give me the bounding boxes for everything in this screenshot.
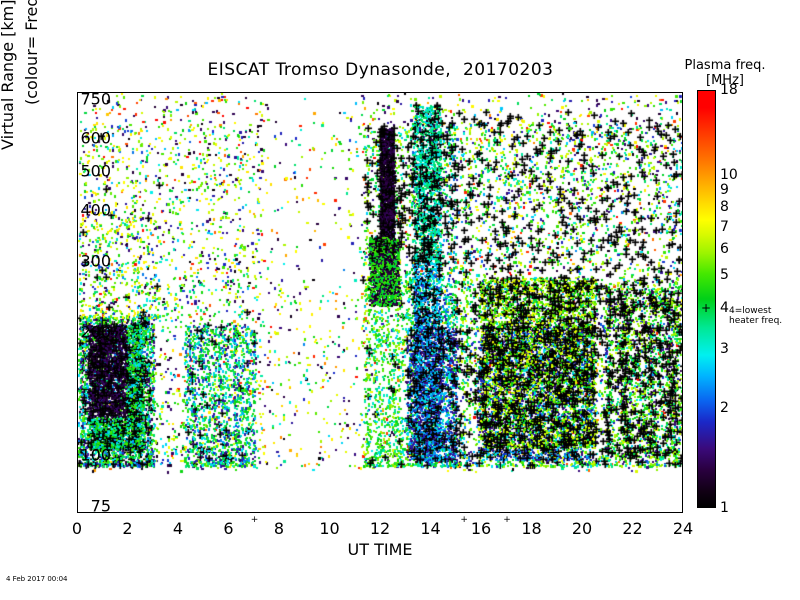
axis-tick xyxy=(77,373,78,374)
x-axis-event-marker-icon: + xyxy=(251,516,259,525)
heater-freq-note-line1: 4=lowest xyxy=(729,306,771,316)
axis-tick xyxy=(682,384,683,385)
axis-tick xyxy=(230,92,231,93)
axis-tick xyxy=(634,512,635,513)
axis-tick xyxy=(482,92,483,93)
x-axis-tick-label: 2 xyxy=(122,519,132,538)
page-title: EISCAT Tromso Dynasonde, 20170203 xyxy=(77,60,684,80)
axis-tick xyxy=(682,112,683,113)
heater-freq-note: 4=lowest heater freq. xyxy=(729,306,782,326)
y-axis-tick-label: 300 xyxy=(80,251,111,270)
axis-tick xyxy=(659,92,660,93)
axis-tick xyxy=(77,262,78,263)
axis-tick xyxy=(305,512,306,513)
axis-tick xyxy=(682,172,683,173)
colourbar-tick-label: 7 xyxy=(720,219,729,235)
x-axis-tick-label: 10 xyxy=(319,519,339,538)
axis-tick xyxy=(129,92,130,93)
axis-tick xyxy=(634,92,635,93)
dynasonde-ionogram-figure: EISCAT Tromso Dynasonde, 20170203 750600… xyxy=(0,0,800,600)
scatter-plot-canvas xyxy=(78,93,683,513)
axis-tick xyxy=(682,100,683,101)
colourbar-tick-label: 8 xyxy=(720,199,729,215)
generation-timestamp: 4 Feb 2017 00:04 xyxy=(6,575,68,583)
axis-tick xyxy=(682,439,683,440)
axis-tick xyxy=(77,235,78,236)
axis-tick xyxy=(482,512,483,513)
axis-tick xyxy=(533,512,534,513)
axis-tick xyxy=(77,343,78,344)
axis-tick xyxy=(381,92,382,93)
axis-tick xyxy=(77,294,78,295)
colourbar-tick-label: 1 xyxy=(720,500,729,516)
axis-tick xyxy=(230,512,231,513)
axis-tick xyxy=(77,439,78,440)
y-axis-tick-label: 200 xyxy=(80,323,111,342)
y-axis-title: Virtual Range [km] xyxy=(0,120,17,150)
axis-tick xyxy=(507,92,508,93)
axis-tick xyxy=(77,100,78,101)
axis-tick xyxy=(331,512,332,513)
axis-tick xyxy=(78,92,79,93)
axis-tick xyxy=(682,362,683,363)
axis-tick xyxy=(608,92,609,93)
axis-tick xyxy=(682,495,683,496)
axis-tick xyxy=(77,333,78,334)
x-axis-tick-label: 24 xyxy=(673,519,693,538)
axis-tick xyxy=(77,211,78,212)
axis-tick xyxy=(77,397,78,398)
axis-tick xyxy=(682,139,683,140)
axis-tick xyxy=(381,512,382,513)
axis-tick xyxy=(608,512,609,513)
axis-tick xyxy=(77,507,78,508)
heater-freq-note-line2: heater freq. xyxy=(729,316,782,326)
x-axis-tick-label: 22 xyxy=(622,519,642,538)
axis-tick xyxy=(331,92,332,93)
axis-tick xyxy=(77,190,78,191)
x-axis-tick-label: 6 xyxy=(223,519,233,538)
axis-tick xyxy=(682,397,683,398)
y-axis-tick-label: 750 xyxy=(80,89,111,108)
axis-tick xyxy=(507,512,508,513)
axis-tick xyxy=(682,456,683,457)
axis-tick xyxy=(583,512,584,513)
x-axis-event-marker-icon: + xyxy=(503,516,511,525)
axis-tick xyxy=(77,155,78,156)
axis-tick xyxy=(682,343,683,344)
axis-tick xyxy=(659,512,660,513)
axis-tick xyxy=(305,92,306,93)
axis-tick xyxy=(457,92,458,93)
axis-tick xyxy=(682,155,683,156)
y-axis-tick-label: 100 xyxy=(80,445,111,464)
axis-tick xyxy=(255,92,256,93)
axis-tick xyxy=(179,92,180,93)
axis-tick xyxy=(77,172,78,173)
axis-tick xyxy=(682,352,683,353)
colourbar-title-line1: Plasma freq. xyxy=(685,58,766,73)
axis-tick xyxy=(154,92,155,93)
y-axis-tick-label: 400 xyxy=(80,201,111,220)
axis-tick xyxy=(583,92,584,93)
axis-tick xyxy=(682,211,683,212)
colourbar-tick-label: 6 xyxy=(720,241,729,257)
axis-tick xyxy=(558,512,559,513)
y-axis-tick-label: 75 xyxy=(91,496,111,515)
colourbar-gradient xyxy=(697,90,716,508)
axis-tick xyxy=(77,362,78,363)
axis-tick xyxy=(558,92,559,93)
axis-tick xyxy=(204,512,205,513)
axis-tick xyxy=(77,410,78,411)
axis-tick xyxy=(77,139,78,140)
axis-tick xyxy=(78,512,79,513)
axis-tick xyxy=(682,424,683,425)
axis-tick xyxy=(204,92,205,93)
axis-tick xyxy=(432,512,433,513)
axis-tick xyxy=(129,512,130,513)
axis-tick xyxy=(356,92,357,93)
axis-tick xyxy=(682,190,683,191)
axis-tick xyxy=(682,294,683,295)
axis-tick xyxy=(682,373,683,374)
axis-tick xyxy=(154,512,155,513)
axis-tick xyxy=(457,512,458,513)
x-axis-tick-label: 8 xyxy=(274,519,284,538)
axis-tick xyxy=(77,112,78,113)
colourbar-tick-label: 4 xyxy=(720,300,729,316)
y-axis-subtitle: (colour= Freq) xyxy=(22,75,41,105)
axis-tick xyxy=(682,410,683,411)
colourbar-tick-label: 2 xyxy=(720,400,729,416)
x-axis-tick-label: 0 xyxy=(72,519,82,538)
axis-tick xyxy=(533,92,534,93)
colourbar-tick-label: 9 xyxy=(720,182,729,198)
colourbar-tick-label: 5 xyxy=(720,267,729,283)
x-axis-tick-label: 16 xyxy=(471,519,491,538)
axis-tick xyxy=(406,92,407,93)
axis-tick xyxy=(77,125,78,126)
axis-tick xyxy=(77,456,78,457)
axis-tick xyxy=(77,424,78,425)
axis-tick xyxy=(682,235,683,236)
axis-tick xyxy=(77,384,78,385)
axis-tick xyxy=(432,92,433,93)
axis-tick xyxy=(356,512,357,513)
x-axis-title: UT TIME xyxy=(77,540,683,559)
axis-tick xyxy=(77,495,78,496)
axis-tick xyxy=(179,512,180,513)
heater-freq-marker-icon: + xyxy=(701,304,711,312)
axis-tick xyxy=(255,512,256,513)
colourbar-tick-label: 18 xyxy=(720,82,738,98)
x-axis-event-marker-icon: + xyxy=(460,516,468,525)
axis-tick xyxy=(280,512,281,513)
axis-tick xyxy=(280,92,281,93)
plot-area[interactable] xyxy=(77,92,683,513)
colourbar-tick-label: 10 xyxy=(720,167,738,183)
axis-tick xyxy=(682,475,683,476)
x-axis-tick-label: 12 xyxy=(370,519,390,538)
colourbar-tick-label: 3 xyxy=(720,341,729,357)
y-axis-tick-label: 600 xyxy=(80,129,111,148)
axis-tick xyxy=(682,507,683,508)
axis-tick xyxy=(682,333,683,334)
x-axis-tick-label: 18 xyxy=(521,519,541,538)
x-axis-tick-label: 14 xyxy=(420,519,440,538)
axis-tick xyxy=(406,512,407,513)
axis-tick xyxy=(77,352,78,353)
x-axis-tick-label: 4 xyxy=(173,519,183,538)
y-axis-tick-label: 500 xyxy=(80,161,111,180)
x-axis-tick-label: 20 xyxy=(572,519,592,538)
axis-tick xyxy=(682,125,683,126)
axis-tick xyxy=(77,475,78,476)
axis-tick xyxy=(682,262,683,263)
